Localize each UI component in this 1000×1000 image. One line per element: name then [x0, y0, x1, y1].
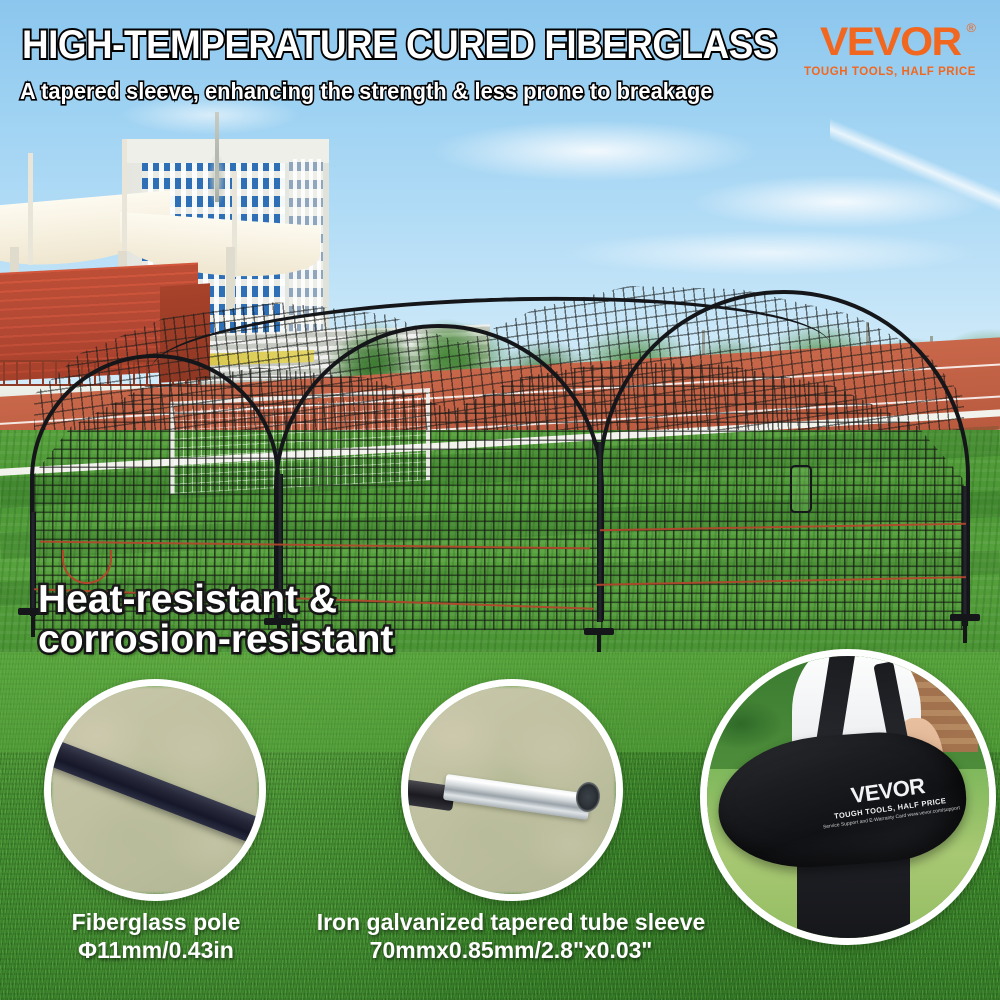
cloud [430, 120, 760, 182]
inset-carry-bag: VEVOR TOUGH TOOLS, HALF PRICE Service Su… [700, 649, 996, 945]
cage-post [597, 442, 603, 622]
ground-stake [584, 628, 614, 635]
feature-headline-line1: Heat-resistant & [38, 580, 558, 620]
canopy-mast [122, 139, 127, 267]
page-subtitle: A tapered sleeve, enhancing the strength… [20, 78, 713, 105]
feature-headline: Heat-resistant & corrosion-resistant [38, 580, 558, 660]
header-banner: HIGH-TEMPERATURE CURED FIBERGLASS A tape… [0, 0, 1000, 118]
brand-logo: VEVOR® TOUGH TOOLS, HALF PRICE [804, 22, 976, 78]
feature-headline-line2: corrosion-resistant [38, 620, 558, 660]
caption-fiberglass-pole: Fiberglass pole Φ11mm/0.43in [50, 908, 262, 964]
cage-post [962, 486, 968, 626]
page-title: HIGH-TEMPERATURE CURED FIBERGLASS [22, 23, 777, 68]
registered-trademark-icon: ® [966, 22, 974, 34]
inset-fiberglass-pole [44, 679, 266, 901]
caption-title: Fiberglass pole [50, 908, 262, 936]
cage-arch [30, 354, 280, 616]
brand-tagline: TOUGH TOOLS, HALF PRICE [804, 66, 976, 78]
inset-iron-sleeve [401, 679, 623, 901]
caption-title: Iron galvanized tapered tube sleeve [276, 908, 746, 936]
brand-name: VEVOR® [820, 22, 960, 62]
cage-post [30, 512, 36, 616]
ground-stake [950, 614, 980, 621]
canopy-mast [28, 153, 33, 265]
cage-net-opening [790, 465, 812, 513]
caption-spec: 70mmx0.85mm/2.8"x0.03" [276, 936, 746, 964]
caption-iron-sleeve: Iron galvanized tapered tube sleeve 70mm… [276, 908, 746, 964]
caption-spec: Φ11mm/0.43in [50, 936, 262, 964]
product-marketing-image: HIGH-TEMPERATURE CURED FIBERGLASS A tape… [0, 0, 1000, 1000]
brand-wordmark: VEVOR [820, 20, 960, 64]
contrail [830, 110, 1000, 220]
